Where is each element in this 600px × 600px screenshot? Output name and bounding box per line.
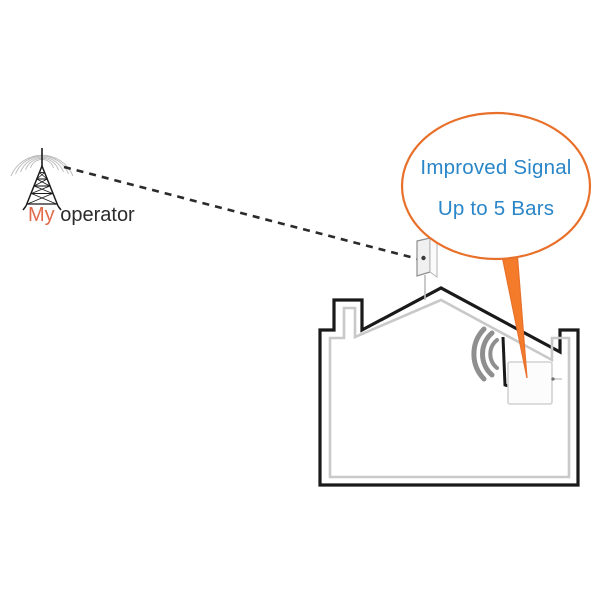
indoor-amplifier-box — [508, 362, 552, 404]
callout-line-1: Improved Signal — [420, 156, 571, 179]
tower-operator-label-brand: My — [28, 204, 55, 226]
cell-tower-group: My operator — [11, 148, 135, 226]
tower-operator-label-rest: operator — [55, 204, 135, 226]
diagram-canvas: My operator — [0, 0, 600, 600]
signal-booster-diagram: My operator — [0, 0, 600, 600]
callout-bubble — [402, 113, 590, 259]
outdoor-antenna-feed-point — [421, 256, 425, 260]
indoor-amplifier-port — [551, 377, 554, 380]
tower-operator-label: My operator — [28, 204, 135, 226]
cell-tower-icon — [23, 148, 61, 210]
callout-line-2: Up to 5 Bars — [438, 197, 554, 220]
outdoor-antenna-side — [430, 238, 437, 277]
